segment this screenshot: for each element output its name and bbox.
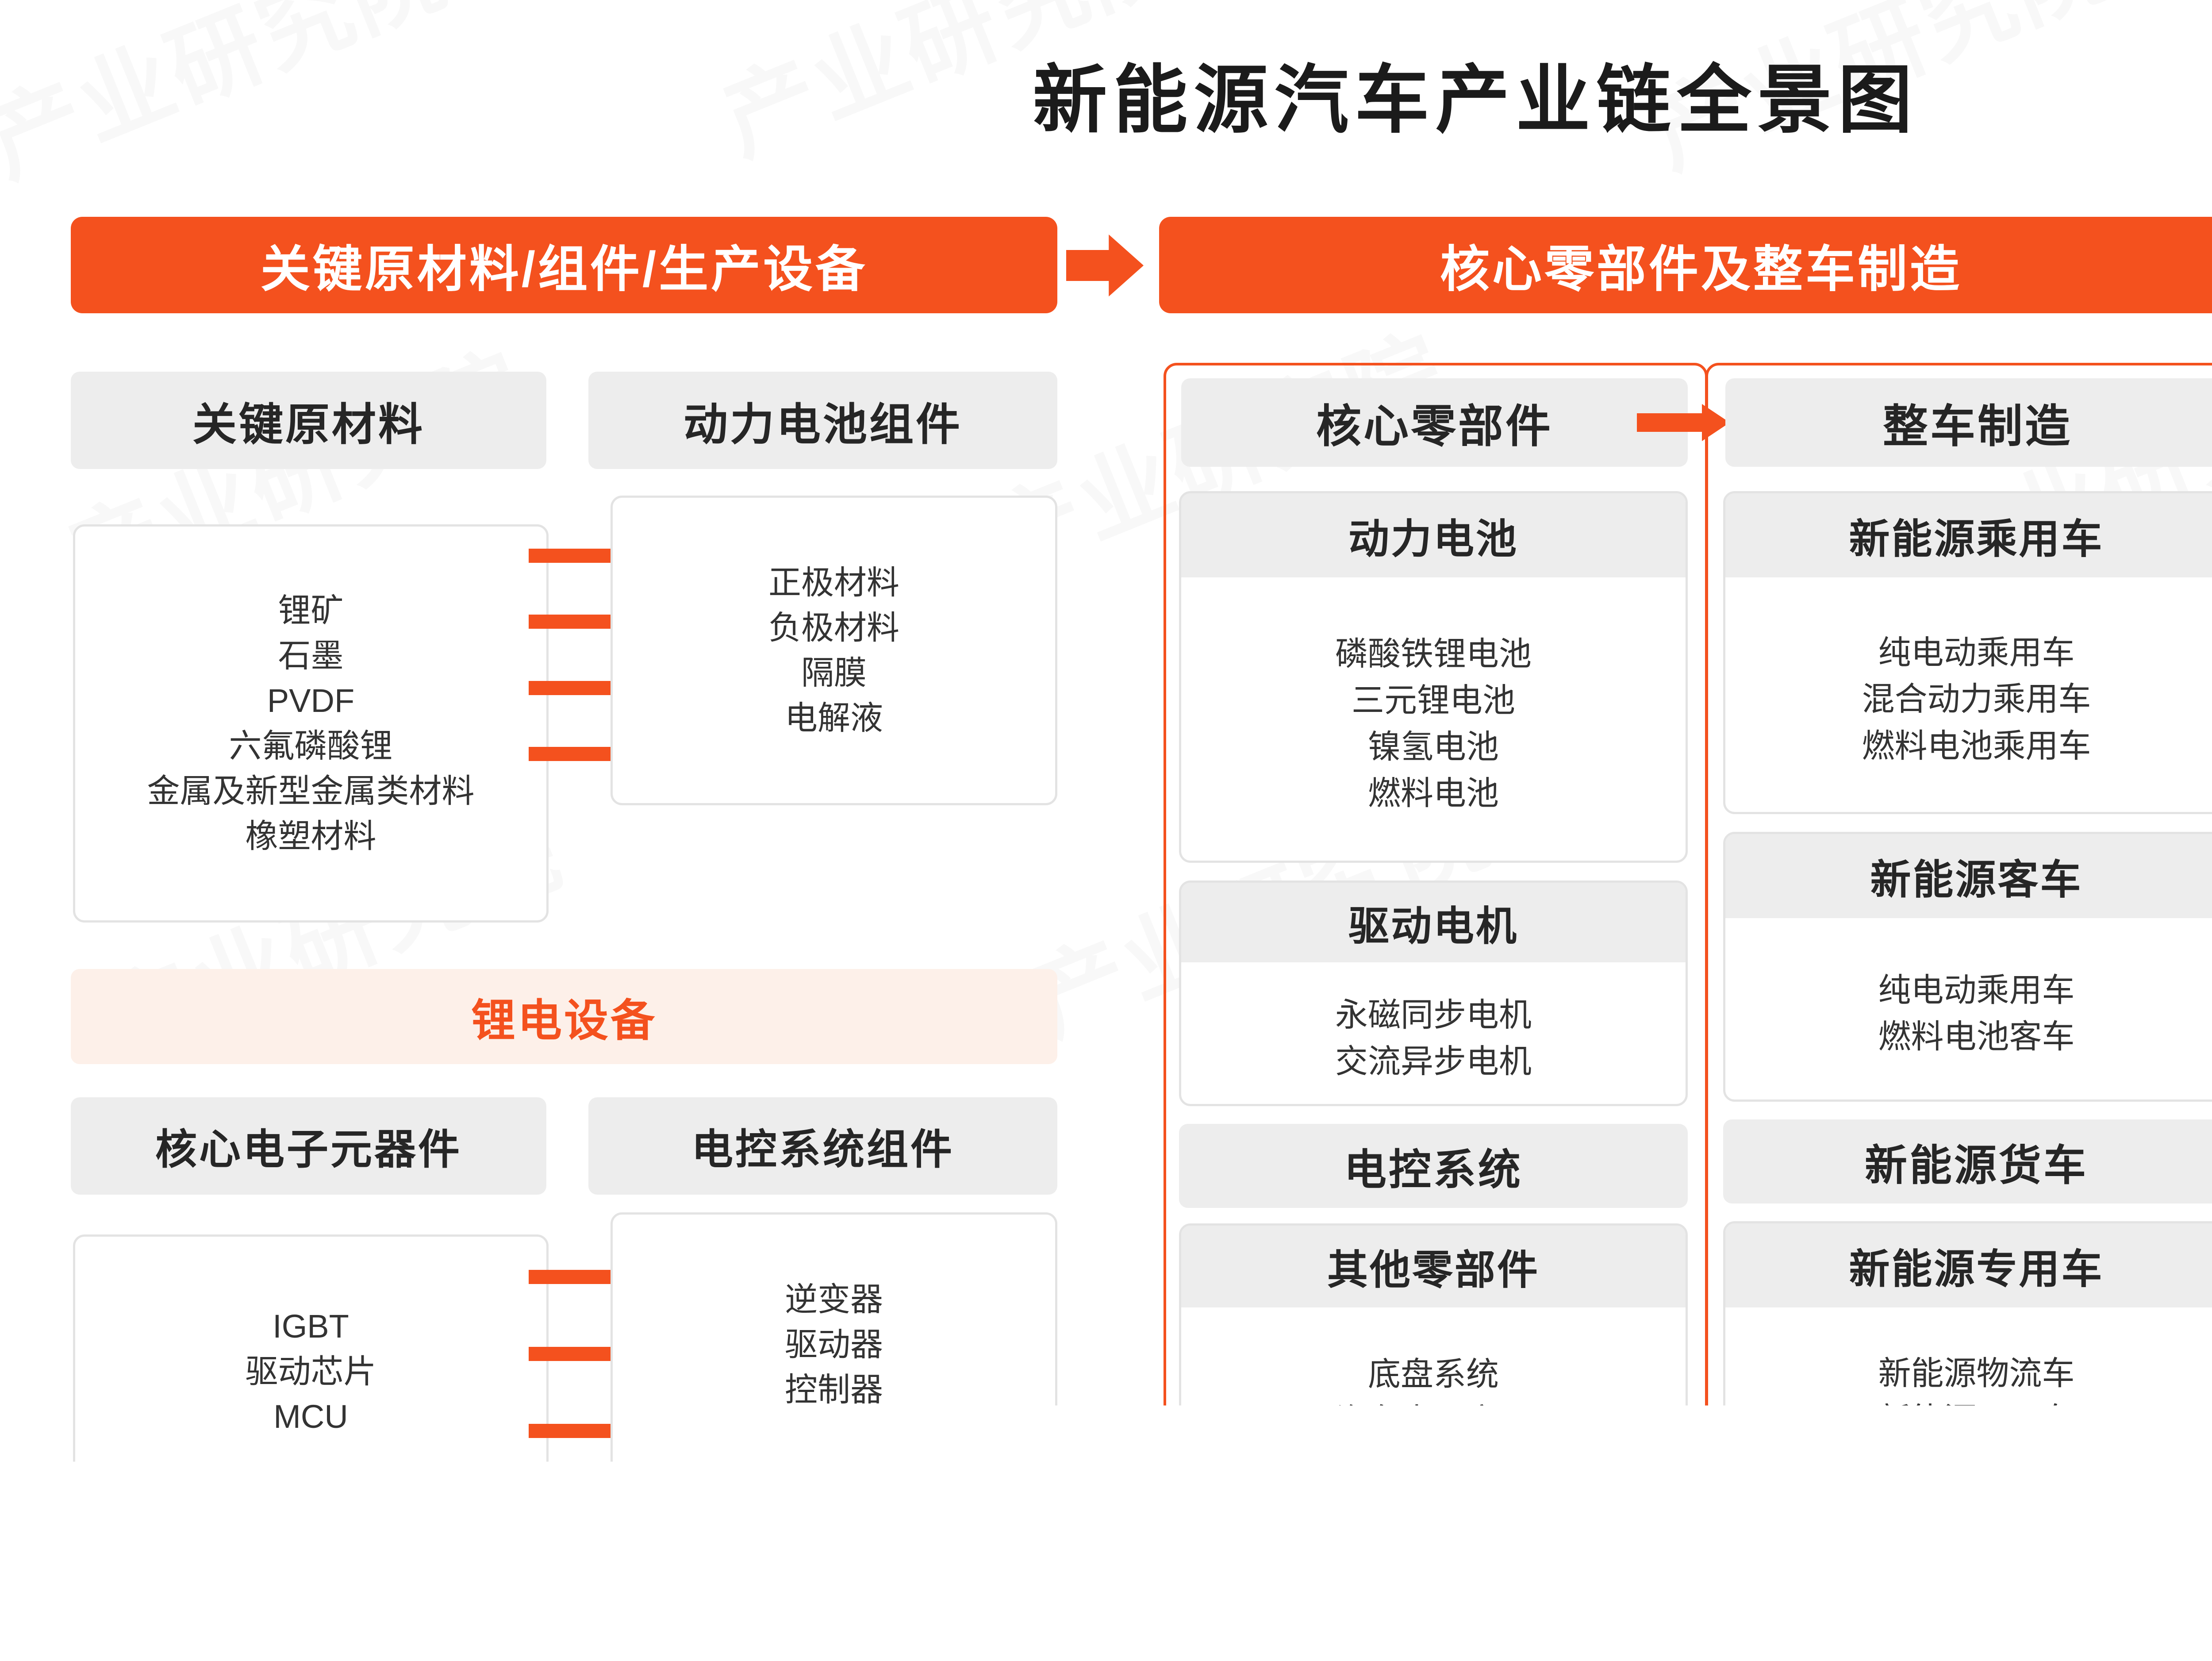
- label-raw-materials: 关键原材料: [71, 372, 546, 469]
- group-control-system: 电控系统: [1179, 1124, 1688, 1208]
- list-item: 驱动器: [785, 1322, 883, 1367]
- list-item: 三元锂电池: [1352, 677, 1515, 723]
- list-item: 新能源环卫车: [1878, 1396, 2075, 1443]
- midstream-flow-arrow-icon: [1637, 400, 1730, 445]
- group-drive-motor: 驱动电机 永磁同步电机 交流异步电机: [1179, 880, 1688, 1106]
- label-vehicle-manufacturing: 整车制造: [1725, 378, 2212, 467]
- box-battery-components: 正极材料 负极材料 隔膜 电解液: [611, 496, 1057, 805]
- group-truck: 新能源货车: [1723, 1119, 2212, 1203]
- page-title: 新能源汽车产业链全景图: [0, 40, 2212, 147]
- diagram-canvas: 新能源汽车产业链全景图 关键原材料/组件/生产设备 核心零部件及整车制造 服务及…: [0, 0, 2212, 1661]
- list-item: 镍氢电池: [1368, 723, 1499, 770]
- label-control-components: 电控系统组件: [588, 1097, 1057, 1195]
- list-item: 永磁同步电机: [1335, 992, 1532, 1038]
- list-item: MCU: [273, 1394, 348, 1439]
- list-item: 控制器: [785, 1367, 883, 1412]
- box-raw-materials: 锂矿 石墨 PVDF 六氟磷酸锂 金属及新型金属类材料 橡塑材料: [73, 524, 549, 923]
- list-item: 逆变器: [785, 1277, 883, 1322]
- list-item: 负极材料: [768, 605, 899, 650]
- label-core-electronics: 核心电子元器件: [71, 1097, 546, 1195]
- label-battery-components: 动力电池组件: [588, 372, 1057, 469]
- group-special-vehicle: 新能源专用车 新能源物流车 新能源环卫车 ……: [1723, 1221, 2212, 1522]
- list-item: 汽车电子产品: [1335, 1397, 1532, 1444]
- list-item: 锂矿: [278, 588, 344, 633]
- stage-header-midstream: 核心零部件及整车制造: [1159, 217, 2212, 313]
- list-item: 混合动力乘用车: [1862, 676, 2091, 722]
- group-title: 新能源客车: [1725, 834, 2212, 918]
- label-core-parts: 核心零部件: [1181, 378, 1688, 467]
- box-core-electronics: IGBT 驱动芯片 MCU: [73, 1234, 549, 1509]
- group-title: 动力电池: [1181, 493, 1686, 577]
- stage-header-upstream: 关键原材料/组件/生产设备: [71, 217, 1057, 313]
- list-item: 轮胎轮毂: [1368, 1444, 1499, 1491]
- list-item: 电解液: [785, 696, 883, 741]
- group-title: 其他零部件: [1181, 1226, 1686, 1307]
- list-item: 底盘系统: [1368, 1351, 1499, 1397]
- list-item: 燃料电池: [1368, 770, 1499, 816]
- label-lithium-equipment: 锂电设备: [71, 969, 1057, 1064]
- list-item: 六氟磷酸锂: [229, 723, 393, 769]
- list-item: 新能源物流车: [1878, 1350, 2075, 1396]
- list-item: ……: [1944, 1443, 2009, 1489]
- list-item: 纯电动乘用车: [1878, 967, 2075, 1013]
- box-control-components: 逆变器 驱动器 控制器 传感器: [611, 1212, 1057, 1522]
- list-item: 车身件: [1384, 1491, 1482, 1537]
- list-item: 正极材料: [768, 560, 899, 605]
- list-item: 橡塑材料: [246, 814, 376, 859]
- list-item: 隔膜: [801, 650, 867, 696]
- group-power-battery: 动力电池 磷酸铁锂电池 三元锂电池 镍氢电池 燃料电池: [1179, 491, 1688, 863]
- group-title: 新能源专用车: [1725, 1223, 2212, 1307]
- list-item: 驱动芯片: [246, 1349, 376, 1394]
- group-title: 新能源乘用车: [1725, 493, 2212, 577]
- list-item: 金属及新型金属类材料: [147, 769, 475, 814]
- list-item: 石墨: [278, 633, 344, 678]
- stage-arrow-1-icon: [1066, 235, 1144, 296]
- list-item: 传感器: [785, 1412, 883, 1457]
- group-title: 驱动电机: [1181, 883, 1686, 962]
- list-item: 燃料电池客车: [1878, 1013, 2075, 1060]
- list-item: 燃料电池乘用车: [1862, 723, 2091, 769]
- list-item: 磷酸铁锂电池: [1335, 631, 1532, 677]
- list-item: 交流异步电机: [1335, 1038, 1532, 1084]
- list-item: 纯电动乘用车: [1878, 629, 2075, 676]
- group-bus: 新能源客车 纯电动乘用车 燃料电池客车: [1723, 832, 2212, 1102]
- group-other-parts: 其他零部件 底盘系统 汽车电子产品 轮胎轮毂 车身件: [1179, 1223, 1688, 1573]
- list-item: PVDF: [267, 678, 354, 723]
- group-passenger-vehicle: 新能源乘用车 纯电动乘用车 混合动力乘用车 燃料电池乘用车: [1723, 491, 2212, 814]
- list-item: IGBT: [273, 1304, 349, 1349]
